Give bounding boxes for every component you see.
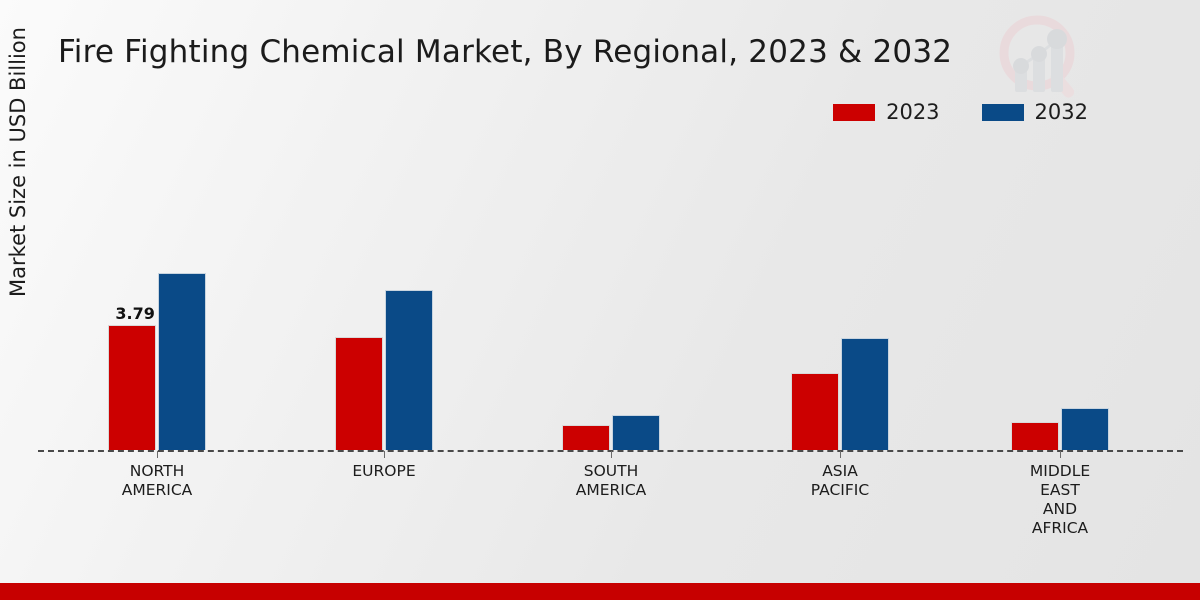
x-label-asia-pacific: ASIA PACIFIC — [740, 462, 940, 500]
x-tick-europe — [384, 451, 385, 458]
bar-2023-asia-pacific[interactable] — [791, 373, 839, 450]
x-tick-south-america — [611, 451, 612, 458]
chart-canvas: Fire Fighting Chemical Market, By Region… — [0, 0, 1200, 600]
bar-2023-europe[interactable] — [335, 337, 383, 450]
bar-2032-europe[interactable] — [385, 290, 433, 450]
bar-2023-south-america[interactable] — [562, 425, 610, 450]
x-label-line: EUROPE — [284, 462, 484, 481]
bar-2032-south-america[interactable] — [612, 415, 660, 450]
footer-accent-bar — [0, 583, 1200, 600]
x-label-middle-east-and-africa: MIDDLE EAST AND AFRICA — [960, 462, 1160, 538]
x-label-line: NORTH — [57, 462, 257, 481]
x-label-line: AFRICA — [960, 519, 1160, 538]
x-label-europe: EUROPE — [284, 462, 484, 481]
x-label-line: PACIFIC — [740, 481, 940, 500]
x-label-line: MIDDLE — [960, 462, 1160, 481]
x-label-line: ASIA — [740, 462, 940, 481]
x-label-line: SOUTH — [511, 462, 711, 481]
bar-2023-north-america[interactable]: 3.79 — [108, 325, 156, 450]
bar-2023-middle-east-and-africa[interactable] — [1011, 422, 1059, 450]
x-label-line: AMERICA — [511, 481, 711, 500]
x-tick-north-america — [157, 451, 158, 458]
x-label-north-america: NORTH AMERICA — [57, 462, 257, 500]
bar-2032-asia-pacific[interactable] — [841, 338, 889, 450]
x-tick-asia-pacific — [840, 451, 841, 458]
plot-area: 3.79 NORTH AMERICA EUROPE SOUTH AMERICA — [0, 0, 1200, 600]
bar-value-label: 3.79 — [115, 304, 154, 326]
bar-2032-north-america[interactable] — [158, 273, 206, 450]
x-label-line: AMERICA — [57, 481, 257, 500]
x-label-line: AND — [960, 500, 1160, 519]
bar-2032-middle-east-and-africa[interactable] — [1061, 408, 1109, 450]
x-label-south-america: SOUTH AMERICA — [511, 462, 711, 500]
x-tick-middle-east-and-africa — [1060, 451, 1061, 458]
x-label-line: EAST — [960, 481, 1160, 500]
